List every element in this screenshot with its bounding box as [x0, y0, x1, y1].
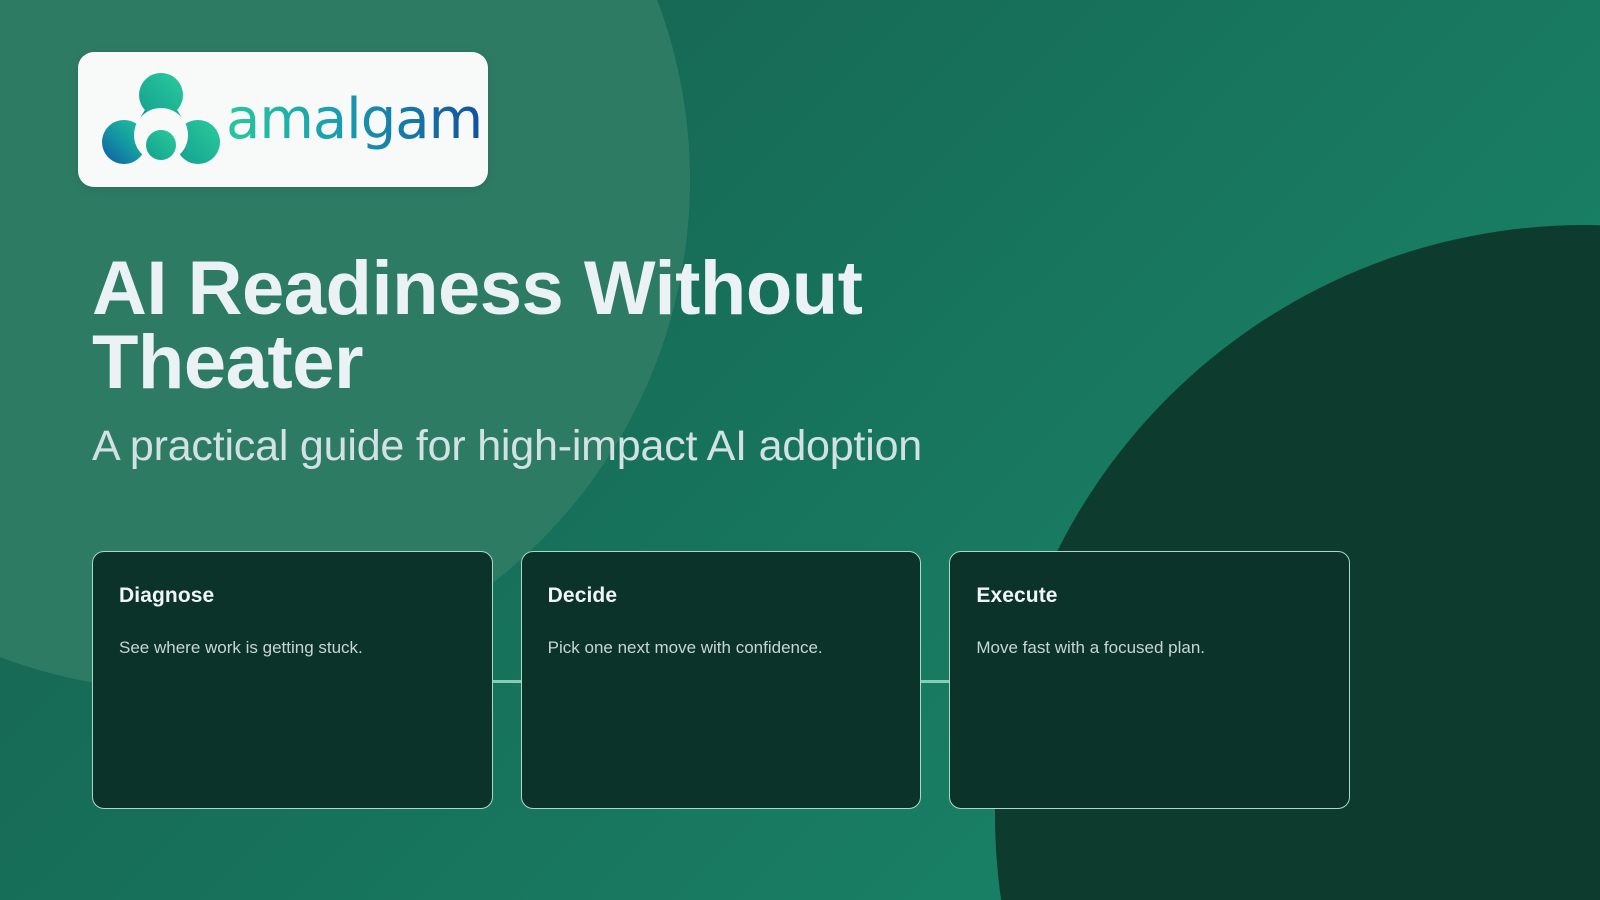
page-title: AI Readiness Without Theater	[92, 252, 952, 401]
step-card-body: Move fast with a focused plan.	[976, 637, 1323, 660]
hero-text-block: AI Readiness Without Theater A practical…	[92, 252, 1192, 469]
steps-row: Diagnose See where work is getting stuck…	[92, 551, 1350, 809]
step-connector-1	[493, 680, 521, 683]
slide-canvas: amalgam AI Readiness Without Theater A p…	[0, 0, 1600, 900]
step-card-title: Diagnose	[119, 584, 466, 608]
step-card-title: Execute	[976, 584, 1323, 608]
svg-text:amalgam: amalgam	[226, 87, 482, 152]
step-card-diagnose[interactable]: Diagnose See where work is getting stuck…	[92, 551, 493, 809]
page-subtitle: A practical guide for high-impact AI ado…	[92, 423, 1192, 469]
step-card-title: Decide	[548, 584, 895, 608]
amalgam-wordmark: amalgam	[226, 85, 488, 155]
amalgam-node-cluster-icon	[102, 73, 220, 167]
step-card-decide[interactable]: Decide Pick one next move with confidenc…	[521, 551, 922, 809]
step-card-body: See where work is getting stuck.	[119, 637, 466, 660]
step-connector-2	[921, 680, 949, 683]
step-card-body: Pick one next move with confidence.	[548, 637, 895, 660]
step-card-execute[interactable]: Execute Move fast with a focused plan.	[949, 551, 1350, 809]
brand-logo-plate: amalgam	[78, 52, 488, 187]
